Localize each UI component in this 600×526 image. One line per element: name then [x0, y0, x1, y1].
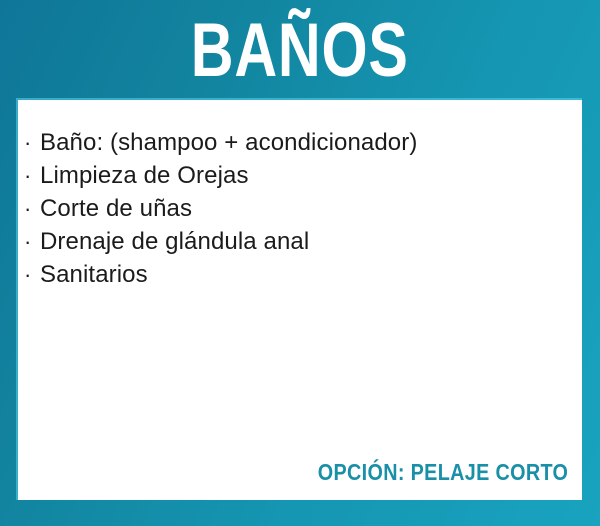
service-list: · Baño: (shampoo + acondicionador) · Lim… [24, 126, 572, 291]
service-item-label: Baño: (shampoo + acondicionador) [40, 126, 417, 159]
bullet-icon: · [24, 258, 40, 291]
service-item-label: Drenaje de glándula anal [40, 225, 309, 258]
bullet-icon: · [24, 126, 40, 159]
service-item-label: Sanitarios [40, 258, 148, 291]
bullet-icon: · [24, 159, 40, 192]
list-item: · Sanitarios [24, 258, 572, 291]
content-panel: · Baño: (shampoo + acondicionador) · Lim… [18, 100, 582, 500]
bullet-icon: · [24, 192, 40, 225]
list-item: · Corte de uñas [24, 192, 572, 225]
option-badge: OPCIÓN: PELAJE CORTO [317, 461, 568, 484]
list-item: · Baño: (shampoo + acondicionador) [24, 126, 572, 159]
service-price-card: BAÑOS · Baño: (shampoo + acondicionador)… [0, 0, 600, 526]
card-header: BAÑOS [0, 0, 600, 100]
page-title: BAÑOS [191, 13, 409, 89]
service-item-label: Limpieza de Orejas [40, 159, 249, 192]
bullet-icon: · [24, 225, 40, 258]
service-item-label: Corte de uñas [40, 192, 192, 225]
list-item: · Drenaje de glándula anal [24, 225, 572, 258]
list-item: · Limpieza de Orejas [24, 159, 572, 192]
